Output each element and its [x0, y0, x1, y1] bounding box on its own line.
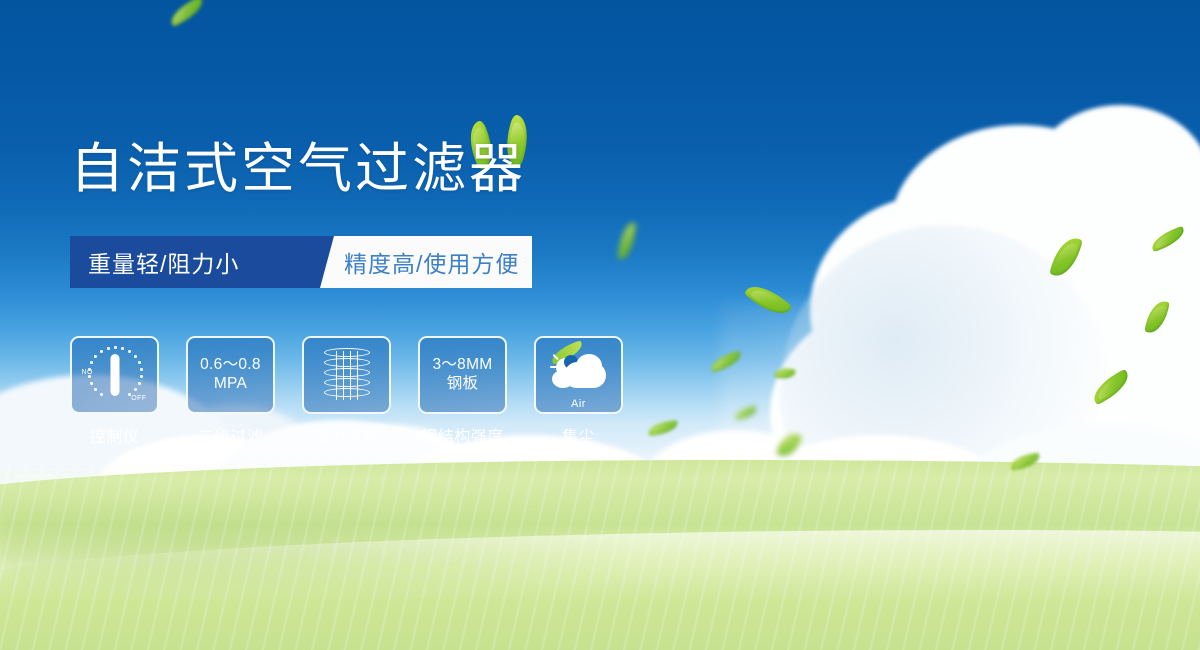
tagline-left-chip: 重量轻/阻力小 [70, 236, 334, 288]
feature-item-dust-collection[interactable]: Air 集尘 [534, 336, 623, 447]
steel-plate-text: 钢板 [432, 375, 492, 394]
feature-tagline-bar: 重量轻/阻力小 精度高/使用方便 [70, 236, 462, 288]
steel-thickness-text: 3～8MM [432, 356, 492, 375]
feature-item-two-stage-filter[interactable]: 0.6～0.8 MPA 二级过滤 [186, 336, 275, 447]
pressure-unit-text: MPA [200, 375, 261, 394]
product-hero-banner: 自洁式空气过滤器 重量轻/阻力小 精度高/使用方便 NO OFF [0, 0, 1200, 650]
tagline-left-text: 重量轻/阻力小 [88, 245, 239, 279]
air-label: Air [548, 398, 610, 410]
feature-label: 控制仪 [90, 423, 140, 447]
feature-icon-row: NO OFF [70, 336, 623, 447]
pressure-range-text: 0.6～0.8 [200, 356, 261, 375]
feature-icon-box: 3～8MM 钢板 [418, 336, 507, 414]
feature-icon-box [302, 336, 391, 414]
feature-label: 二级过滤 [197, 423, 263, 447]
feature-icon-box: NO OFF [70, 336, 159, 414]
feature-item-controller[interactable]: NO OFF [70, 336, 159, 447]
page-title: 自洁式空气过滤器 [70, 142, 526, 196]
filter-coil-icon [324, 346, 370, 404]
grass-texture-stripes [0, 460, 1200, 650]
feature-icon-box: Air [534, 336, 623, 414]
gauge-label-off: OFF [131, 395, 146, 402]
feature-label: 钢结构强度 [421, 423, 504, 447]
feature-label: 强力反吹 [313, 423, 379, 447]
tagline-right-chip: 精度高/使用方便 [320, 236, 532, 288]
cloud-body [564, 362, 606, 388]
tagline-right-text: 精度高/使用方便 [344, 245, 519, 279]
feature-item-steel-strength[interactable]: 3～8MM 钢板 钢结构强度 [418, 336, 507, 447]
gauge-dial-icon: NO OFF [83, 345, 147, 405]
feature-item-pulse-blowback[interactable]: 强力反吹 [302, 336, 391, 447]
feature-icon-box: 0.6～0.8 MPA [186, 336, 275, 414]
air-cloud-icon: Air [548, 352, 610, 398]
feature-label: 集尘 [562, 423, 595, 447]
